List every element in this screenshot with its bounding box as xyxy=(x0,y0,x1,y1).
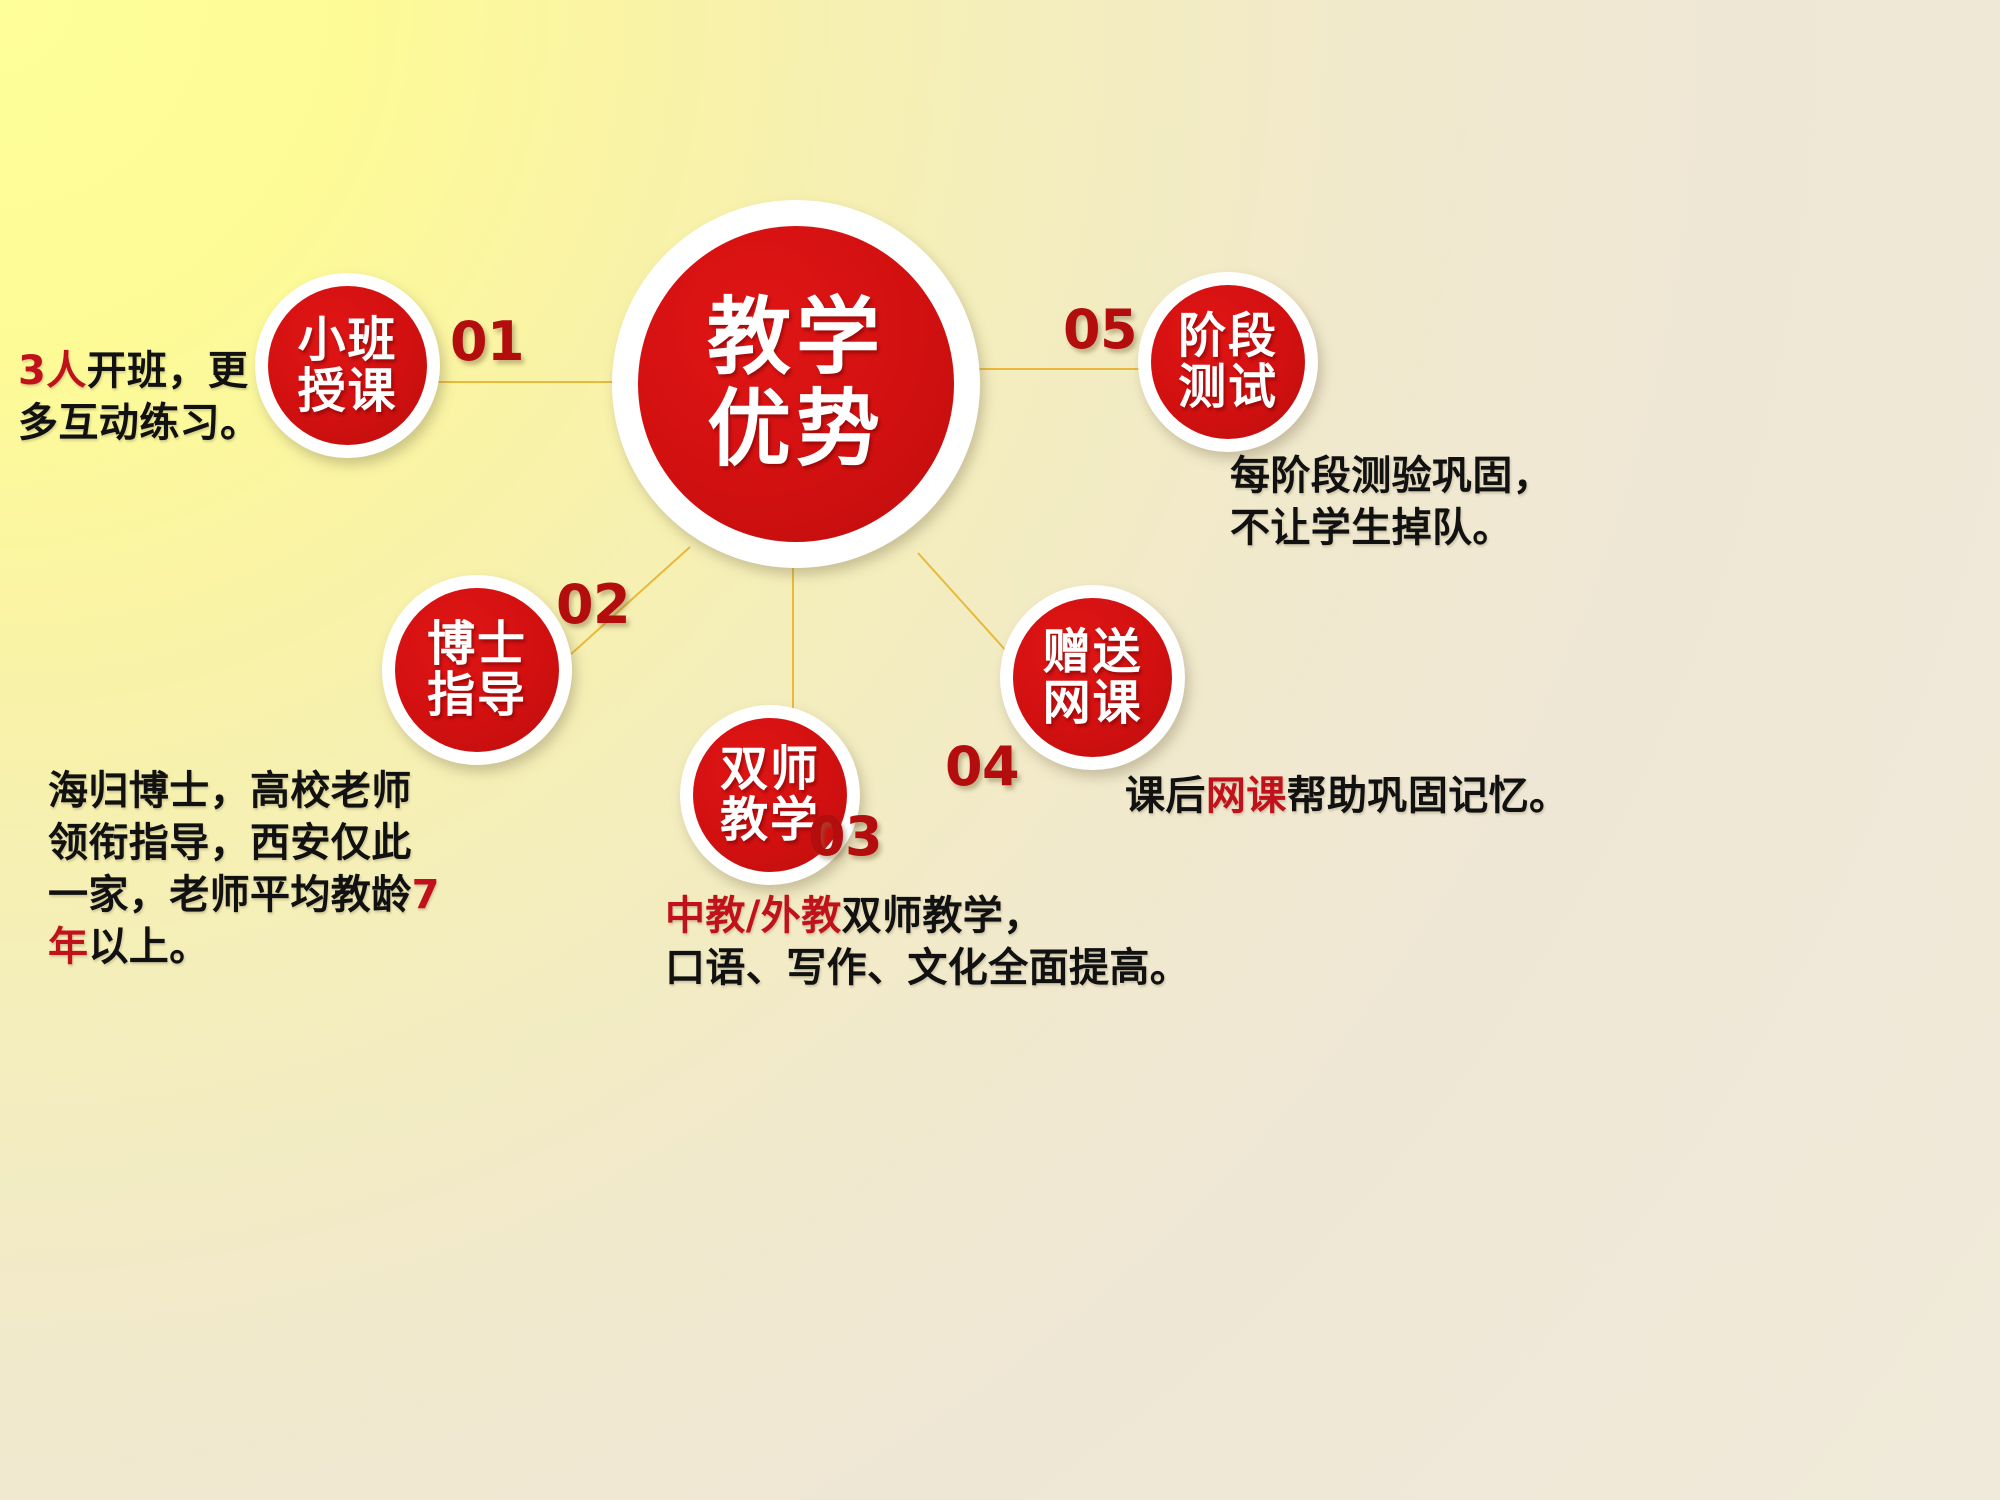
step-number-05: 05 xyxy=(1063,298,1137,361)
node-disc-05: 阶段 测试 xyxy=(1151,285,1305,439)
node-04-label-line1: 赠送 xyxy=(1043,628,1143,677)
caption-04: 课后网课帮助巩固记忆。 xyxy=(1125,770,1685,822)
caption-03-highlight: 中教/外教 xyxy=(665,893,842,939)
caption-01-highlight: 3人 xyxy=(18,348,87,394)
infographic-canvas: 教学 优势 小班 授课 01 3人开班，更 多互动练习。 博士 指导 02 海归… xyxy=(0,0,2000,1500)
node-02-label-line2: 指导 xyxy=(427,671,527,720)
caption-02-part-a: 海归博士，高校老师 领衔指导，西安仅此 一家，老师平均教龄 xyxy=(48,768,412,918)
connector-line-01 xyxy=(430,381,625,383)
caption-03: 中教/外教双师教学， 口语、写作、文化全面提高。 xyxy=(665,890,1285,994)
node-03-label-line2: 教学 xyxy=(720,796,820,845)
caption-01: 3人开班，更 多互动练习。 xyxy=(18,345,298,449)
step-number-04: 04 xyxy=(945,735,1019,798)
caption-05: 每阶段测验巩固， 不让学生掉队。 xyxy=(1230,450,1750,554)
node-01-label-line1: 小班 xyxy=(298,316,398,365)
connector-line-05 xyxy=(968,368,1153,370)
hub-title-line2: 优势 xyxy=(707,387,885,473)
node-disc-02: 博士 指导 xyxy=(395,588,559,752)
caption-04-highlight: 网课 xyxy=(1206,773,1287,819)
step-number-03: 03 xyxy=(808,805,882,868)
node-02-label-line1: 博士 xyxy=(427,620,527,669)
connector-line-03 xyxy=(792,568,794,718)
hub-circle-teaching-advantage[interactable]: 教学 优势 xyxy=(612,200,980,568)
caption-02: 海归博士，高校老师 领衔指导，西安仅此 一家，老师平均教龄7 年以上。 xyxy=(48,765,468,973)
step-number-02: 02 xyxy=(556,573,630,636)
node-03-label-line1: 双师 xyxy=(720,745,820,794)
node-05-label-line1: 阶段 xyxy=(1178,312,1278,361)
node-circle-04-free-online-course[interactable]: 赠送 网课 xyxy=(1000,585,1185,770)
node-01-label-line2: 授课 xyxy=(298,367,398,416)
hub-disc: 教学 优势 xyxy=(638,226,954,542)
hub-title-line1: 教学 xyxy=(707,295,885,381)
step-number-01: 01 xyxy=(450,310,524,373)
node-circle-05-stage-test[interactable]: 阶段 测试 xyxy=(1138,272,1318,452)
node-circle-02-doctor-guidance[interactable]: 博士 指导 xyxy=(382,575,572,765)
node-05-label-line2: 测试 xyxy=(1178,363,1278,412)
caption-04-part-a: 课后 xyxy=(1125,773,1206,819)
caption-02-part-b: 以上。 xyxy=(88,924,209,970)
node-04-label-line2: 网课 xyxy=(1043,679,1143,728)
caption-04-part-b: 帮助巩固记忆。 xyxy=(1287,773,1570,819)
node-disc-04: 赠送 网课 xyxy=(1013,598,1172,757)
